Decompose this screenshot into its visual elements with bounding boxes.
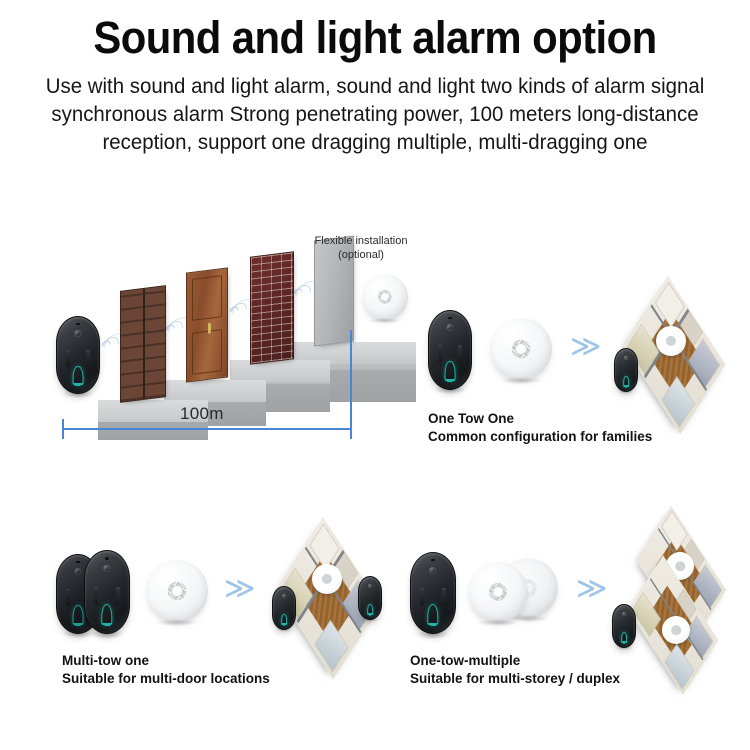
signal-wave-2 [166, 312, 182, 346]
dimension-line-100m [62, 428, 352, 430]
microphone-slot-icon [448, 317, 452, 319]
dimension-label: 100m [180, 404, 224, 424]
bell-button-icon[interactable] [427, 604, 438, 625]
camera-lens-icon [624, 356, 628, 360]
bell-button-icon [281, 614, 287, 625]
bell-button-icon[interactable] [73, 366, 84, 386]
config-one-tow-one: ≫ One Tow One Common configuration for f… [418, 306, 748, 454]
infographic-page: Sound and light alarm option Use with so… [0, 0, 750, 750]
speaker-slot-left-icon [66, 589, 70, 606]
speaker-slot-right-icon [116, 587, 120, 605]
speaker-grille-icon [508, 336, 534, 362]
speaker-slot-right-icon [86, 350, 90, 367]
chevron-right-icon: ≫ [570, 332, 601, 362]
barrier-brick-wall [250, 251, 294, 364]
flexible-note-line-2: (optional) [338, 249, 384, 261]
alarm-device [146, 560, 208, 622]
camera-lens-icon [446, 324, 453, 331]
caption-title: Multi-tow one [62, 652, 270, 670]
caption-one-tow-one: One Tow One Common configuration for fam… [428, 410, 652, 446]
caption-description: Suitable for multi-door locations [62, 670, 270, 688]
installed-doorbell [612, 604, 636, 648]
bell-button-icon [621, 632, 627, 643]
caption-description: Common configuration for families [428, 428, 652, 446]
doorbell-transmitter [56, 316, 100, 394]
barrier-ornate-gate [120, 285, 166, 403]
installed-doorbell [614, 348, 638, 392]
house-floorplan-duplex [606, 532, 750, 664]
microphone-slot-icon [76, 323, 80, 325]
barrier-wooden-door [186, 267, 228, 382]
config-multi-tow-one: ≫ Multi-tow one [52, 546, 392, 694]
camera-lens-icon [74, 568, 81, 575]
signal-wave-1 [102, 328, 118, 362]
staircase-scene [44, 232, 416, 454]
header: Sound and light alarm option Use with so… [0, 0, 750, 157]
penetration-diagram: Flexible installation (optional) 100m [44, 232, 416, 454]
camera-lens-icon [282, 594, 286, 598]
dimension-riser-right [350, 330, 352, 430]
page-title: Sound and light alarm option [43, 14, 707, 62]
flexible-installation-note: Flexible installation (optional) [296, 234, 426, 262]
installed-alarm [656, 326, 686, 356]
speaker-slot-left-icon [94, 587, 98, 605]
microphone-slot-icon [431, 559, 435, 561]
camera-lens-icon [103, 565, 110, 572]
doorbell-device-front [84, 550, 130, 634]
bell-button-icon[interactable] [445, 361, 456, 381]
page-subtitle: Use with sound and light alarm, sound an… [36, 72, 714, 157]
camera-lens-icon [368, 584, 372, 588]
alarm-device [490, 318, 552, 380]
caption-multi-tow-one: Multi-tow one Suitable for multi-door lo… [62, 652, 270, 688]
camera-lens-icon [429, 567, 436, 574]
caption-one-tow-multiple: One-tow-multiple Suitable for multi-stor… [410, 652, 620, 688]
microphone-slot-icon [105, 557, 109, 559]
speaker-slot-left-icon [420, 588, 424, 606]
speaker-slot-right-icon [458, 345, 462, 362]
signal-wave-4 [294, 276, 310, 310]
speaker-slot-left-icon [438, 345, 442, 362]
installed-doorbell-left [272, 586, 296, 630]
house-floor-lower [606, 582, 740, 668]
caption-title: One Tow One [428, 410, 652, 428]
speaker-grille-icon [375, 287, 394, 306]
alarm-device-front [468, 562, 528, 622]
camera-lens-icon [74, 330, 81, 337]
chevron-right-icon: ≫ [224, 574, 255, 604]
speaker-slot-right-icon [442, 588, 446, 606]
room-living [661, 511, 687, 551]
caption-title: One-tow-multiple [410, 652, 620, 670]
bell-button-icon [73, 605, 84, 625]
doorbell-device [410, 552, 456, 634]
bell-button-icon[interactable] [101, 604, 112, 625]
speaker-slot-left-icon [66, 350, 70, 367]
speaker-grille-icon [164, 578, 190, 604]
caption-description: Suitable for multi-storey / duplex [410, 670, 620, 688]
door-knob-icon [208, 322, 211, 333]
installed-alarm [312, 564, 342, 594]
config-one-tow-multiple: ≫ [400, 546, 748, 694]
installed-doorbell-right [358, 576, 382, 620]
microphone-slot-icon [76, 561, 80, 563]
house-floorplan [604, 300, 744, 410]
bell-button-icon [623, 376, 629, 387]
house-floorplan [258, 540, 398, 656]
flexible-note-line-1: Flexible installation [315, 235, 408, 247]
doorbell-device [428, 310, 472, 390]
signal-wave-3 [230, 294, 246, 328]
bell-button-icon [367, 604, 373, 615]
alarm-receiver [362, 274, 408, 320]
chevron-right-icon: ≫ [576, 574, 607, 604]
installed-alarm-lower [662, 616, 690, 644]
camera-lens-icon [622, 612, 626, 616]
speaker-grille-icon [485, 579, 510, 604]
